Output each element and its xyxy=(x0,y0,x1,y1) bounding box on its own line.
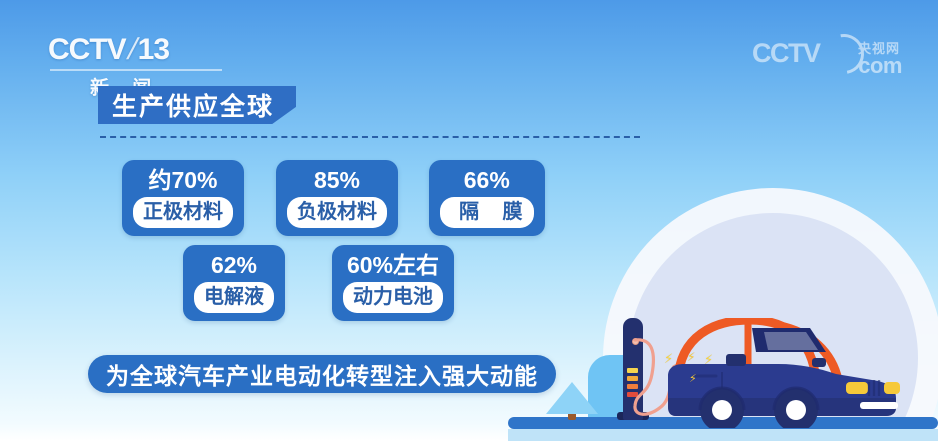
stat-pill-negative-electrode: 85% 负极材料 xyxy=(276,160,398,236)
cctv-logo-row: CCTV / 13 xyxy=(48,33,238,67)
stat-pill-electrolyte: 62% 电解液 xyxy=(183,245,285,321)
title-banner: 生产供应全球 xyxy=(98,86,296,124)
lightning-bolt-icon: ⚡ xyxy=(704,352,713,368)
stat-pill-separator: 66% 隔 膜 xyxy=(429,160,545,236)
lightning-bolt-icon: ⚡ xyxy=(689,372,697,385)
stat-value: 约70% xyxy=(133,165,233,195)
footer-message: 为全球汽车产业电动化转型注入强大动能 xyxy=(106,357,538,391)
watermark-com: com xyxy=(858,53,902,79)
stat-value: 85% xyxy=(287,165,387,195)
infographic-canvas: CCTV / 13 新 闻 CCTV 央视网 com 生产供应全球 约70% 正… xyxy=(0,0,938,441)
footer-banner: 为全球汽车产业电动化转型注入强大动能 xyxy=(88,355,556,393)
stat-label: 负极材料 xyxy=(287,197,387,228)
stat-pill-power-battery: 60%左右 动力电池 xyxy=(332,245,454,321)
lightning-bolt-icon: ⚡ xyxy=(664,351,673,367)
cctv-channel-number: 13 xyxy=(138,33,169,67)
electric-car-icon xyxy=(660,318,930,428)
stat-label: 动力电池 xyxy=(343,282,443,313)
cctv-com-watermark: CCTV 央视网 com xyxy=(752,38,902,84)
stat-value: 60%左右 xyxy=(343,250,443,280)
stat-pill-positive-electrode: 约70% 正极材料 xyxy=(122,160,244,236)
page-title: 生产供应全球 xyxy=(112,87,274,123)
stat-value: 66% xyxy=(440,165,534,195)
cctv-logo-underline xyxy=(50,69,222,71)
ground-shadow xyxy=(508,429,938,441)
stat-label: 隔 膜 xyxy=(440,197,534,228)
stat-label: 电解液 xyxy=(194,282,274,313)
lightning-bolt-icon: ⚡ xyxy=(687,350,695,364)
stat-label: 正极材料 xyxy=(133,197,233,228)
dashed-divider xyxy=(100,136,640,138)
cctv-wordmark: CCTV xyxy=(48,33,126,67)
cctv13-logo: CCTV / 13 新 闻 xyxy=(48,33,238,95)
stat-value: 62% xyxy=(194,250,274,280)
